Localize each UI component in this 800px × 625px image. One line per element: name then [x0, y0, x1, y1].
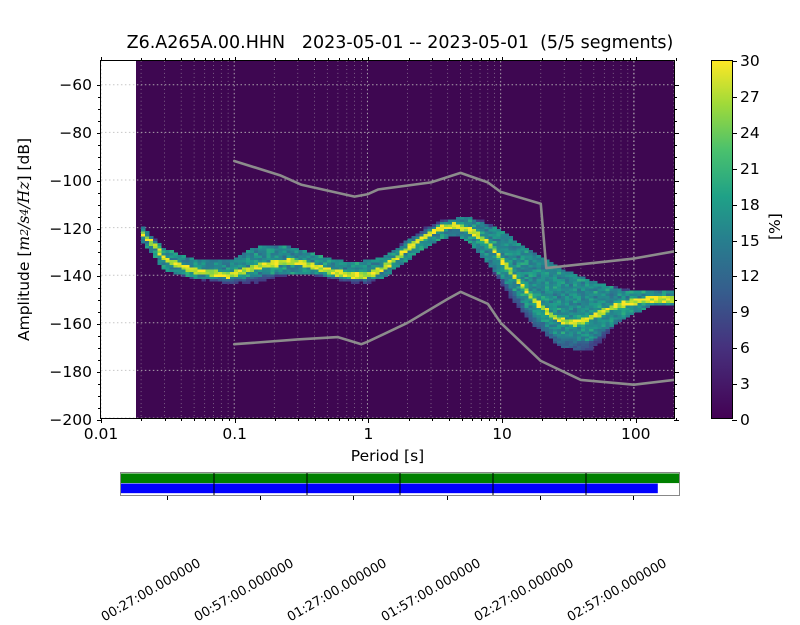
x-tick-minor	[328, 418, 329, 421]
timeline-tick-label: 00:27:00.000000	[99, 556, 204, 625]
x-tick-minor	[583, 418, 584, 421]
y-tick-minor	[98, 264, 101, 265]
y-tick-label: −100	[49, 172, 92, 190]
x-tick-minor	[496, 418, 497, 421]
x-tick-minor-top	[432, 58, 433, 61]
x-tick-minor	[165, 418, 166, 421]
y-tick-major-right	[674, 181, 679, 182]
x-tick-minor-top	[496, 58, 497, 61]
y-axis-unit-m: m	[15, 236, 33, 251]
y-tick-minor	[98, 241, 101, 242]
y-tick-minor	[98, 121, 101, 122]
x-tick-label: 0.1	[222, 425, 247, 443]
x-tick-minor	[355, 418, 356, 421]
y-axis-title-prefix: Amplitude [	[15, 251, 33, 341]
x-tick-minor-top	[348, 58, 349, 61]
timeline-axes[interactable]	[120, 472, 680, 496]
x-tick-minor-top	[229, 58, 230, 61]
ppsd-data-layer	[101, 61, 674, 418]
y-tick-major	[97, 229, 102, 230]
timeline-tick	[260, 496, 261, 500]
x-tick-minor-top	[596, 58, 597, 61]
x-tick-minor	[623, 418, 624, 421]
x-tick-minor-top	[566, 58, 567, 61]
x-tick-minor	[362, 418, 363, 421]
y-tick-minor	[98, 252, 101, 253]
y-tick-major-right	[674, 229, 679, 230]
x-tick-minor-top	[583, 58, 584, 61]
x-tick-major-top	[636, 57, 637, 62]
x-tick-minor	[298, 418, 299, 421]
x-tick-major	[235, 418, 236, 423]
x-tick-minor	[275, 418, 276, 421]
x-tick-minor-top	[489, 58, 490, 61]
y-tick-minor-right	[674, 264, 677, 265]
x-tick-minor	[489, 418, 490, 421]
timeline-bars	[121, 473, 679, 495]
x-tick-minor-top	[205, 58, 206, 61]
y-tick-label: −80	[59, 124, 92, 142]
y-tick-major-right	[674, 85, 679, 86]
y-tick-minor-right	[674, 205, 677, 206]
x-tick-major-top	[101, 57, 102, 62]
y-tick-major	[97, 85, 102, 86]
x-tick-minor-top	[214, 58, 215, 61]
y-tick-minor-right	[674, 157, 677, 158]
x-tick-minor	[472, 418, 473, 421]
colorbar-tick-label: 24	[740, 124, 760, 142]
x-tick-minor	[222, 418, 223, 421]
x-tick-minor-top	[462, 58, 463, 61]
timeline-tick-label: 00:57:00.000000	[192, 556, 297, 625]
y-tick-minor-right	[674, 396, 677, 397]
x-tick-major	[636, 418, 637, 423]
y-axis-unit-m-exp: 2	[18, 229, 31, 236]
timeline-tick-label: 01:57:00.000000	[379, 556, 484, 625]
colorbar-tick-label: 15	[740, 232, 760, 250]
x-tick-minor	[409, 418, 410, 421]
y-tick-minor-right	[674, 384, 677, 385]
x-tick-minor-top	[141, 58, 142, 61]
y-tick-minor	[98, 300, 101, 301]
y-tick-label: −140	[49, 267, 92, 285]
y-tick-major	[97, 181, 102, 182]
x-tick-label: 1	[363, 425, 373, 443]
x-tick-major-top	[235, 57, 236, 62]
y-tick-major	[97, 133, 102, 134]
y-tick-minor	[98, 312, 101, 313]
y-tick-label: −180	[49, 363, 92, 381]
colorbar-tick	[732, 384, 737, 385]
x-tick-minor-top	[630, 58, 631, 61]
x-tick-minor	[348, 418, 349, 421]
x-tick-minor-top	[298, 58, 299, 61]
colorbar-tick-label: 3	[740, 375, 750, 393]
y-tick-minor-right	[674, 408, 677, 409]
y-tick-minor-right	[674, 336, 677, 337]
timeline-tick	[167, 496, 168, 500]
y-tick-minor	[98, 288, 101, 289]
x-tick-label: 10	[492, 425, 512, 443]
colorbar-tick-label: 18	[740, 196, 760, 214]
x-tick-minor	[630, 418, 631, 421]
y-axis-unit-slash-1: /	[15, 224, 33, 229]
y-axis-unit-s: s	[15, 216, 33, 224]
x-tick-minor	[205, 418, 206, 421]
page-title: Z6.A265A.00.HHN 2023-05-01 -- 2023-05-01…	[0, 33, 800, 53]
x-tick-minor-top	[362, 58, 363, 61]
y-axis-unit-slash-2: /	[15, 203, 33, 208]
x-tick-minor	[566, 418, 567, 421]
y-tick-minor	[98, 109, 101, 110]
y-tick-minor-right	[674, 97, 677, 98]
x-tick-minor-top	[275, 58, 276, 61]
y-axis-title: Amplitude [m2/s4/Hz] [dB]	[14, 60, 34, 419]
y-tick-minor	[98, 217, 101, 218]
y-tick-minor	[98, 360, 101, 361]
y-tick-minor	[98, 205, 101, 206]
x-tick-minor-top	[676, 58, 677, 61]
colorbar-tick-label: 12	[740, 267, 760, 285]
x-tick-minor	[481, 418, 482, 421]
y-tick-minor-right	[674, 312, 677, 313]
colorbar-tick	[732, 61, 737, 62]
y-tick-minor-right	[674, 121, 677, 122]
colorbar-tick	[732, 276, 737, 277]
timeline-tick-label: 02:27:00.000000	[472, 556, 577, 625]
x-tick-minor-top	[339, 58, 340, 61]
y-tick-minor-right	[674, 348, 677, 349]
x-tick-minor-top	[615, 58, 616, 61]
y-tick-minor-right	[674, 288, 677, 289]
colorbar-tick	[732, 348, 737, 349]
y-tick-major-right	[674, 133, 679, 134]
x-tick-major	[502, 418, 503, 423]
y-tick-minor-right	[674, 300, 677, 301]
x-tick-major	[101, 418, 102, 423]
x-tick-minor-top	[181, 58, 182, 61]
colorbar-tick	[732, 312, 737, 313]
x-tick-minor	[462, 418, 463, 421]
y-tick-minor-right	[674, 193, 677, 194]
colorbar-tick-label: 9	[740, 303, 750, 321]
x-tick-minor	[194, 418, 195, 421]
y-tick-minor-right	[674, 360, 677, 361]
y-axis-unit-s-exp: 4	[18, 208, 31, 215]
x-tick-minor-top	[194, 58, 195, 61]
x-tick-minor-top	[481, 58, 482, 61]
ppsd-plot-area	[101, 61, 674, 418]
y-tick-minor	[98, 408, 101, 409]
y-tick-minor-right	[674, 169, 677, 170]
y-tick-label: −60	[59, 76, 92, 94]
y-tick-major-right	[674, 324, 679, 325]
x-tick-major-top	[368, 57, 369, 62]
x-tick-minor	[229, 418, 230, 421]
colorbar-tick	[732, 97, 737, 98]
y-tick-minor	[98, 348, 101, 349]
colorbar-tick	[732, 420, 737, 421]
y-tick-major	[97, 372, 102, 373]
x-tick-minor	[606, 418, 607, 421]
x-tick-minor	[542, 418, 543, 421]
timeline-tick	[633, 496, 634, 500]
x-tick-major	[368, 418, 369, 423]
colorbar-tick	[732, 205, 737, 206]
x-tick-minor	[615, 418, 616, 421]
y-tick-minor	[98, 157, 101, 158]
x-tick-minor-top	[472, 58, 473, 61]
x-tick-minor	[141, 418, 142, 421]
y-tick-minor	[98, 193, 101, 194]
y-axis-title-suffix: ] [dB]	[15, 138, 33, 182]
y-tick-minor-right	[674, 241, 677, 242]
x-tick-minor	[596, 418, 597, 421]
y-tick-major	[97, 324, 102, 325]
x-axis-title: Period [s]	[100, 447, 675, 465]
colorbar-tick-label: 27	[740, 88, 760, 106]
colorbar-tick-label: 30	[740, 52, 760, 70]
y-tick-major-right	[674, 372, 679, 373]
x-tick-minor	[214, 418, 215, 421]
y-tick-minor	[98, 336, 101, 337]
timeline-tick	[353, 496, 354, 500]
y-axis-unit-hz: Hz	[15, 182, 33, 204]
x-tick-minor-top	[165, 58, 166, 61]
colorbar-tick-label: 6	[740, 339, 750, 357]
y-tick-minor	[98, 384, 101, 385]
x-tick-minor-top	[315, 58, 316, 61]
x-tick-major-top	[502, 57, 503, 62]
timeline-tick-label: 02:57:00.000000	[565, 556, 670, 625]
colorbar-tick-label: 21	[740, 160, 760, 178]
x-tick-minor	[432, 418, 433, 421]
ppsd-axes[interactable]: −60−80−100−120−140−160−180−2000.010.1110…	[100, 60, 675, 419]
colorbar-tick	[732, 241, 737, 242]
x-tick-minor	[339, 418, 340, 421]
x-tick-minor-top	[222, 58, 223, 61]
y-tick-major	[97, 276, 102, 277]
colorbar-tick-label: 0	[740, 411, 750, 429]
x-tick-minor-top	[449, 58, 450, 61]
colorbar-tick	[732, 133, 737, 134]
timeline-tick	[447, 496, 448, 500]
x-tick-minor-top	[409, 58, 410, 61]
timeline-tick-label: 01:27:00.000000	[285, 556, 390, 625]
y-tick-minor	[98, 145, 101, 146]
colorbar-title: [%]	[766, 213, 784, 240]
colorbar[interactable]: 302724211815129630	[711, 60, 733, 419]
timeline-tick	[540, 496, 541, 500]
colorbar-tick	[732, 169, 737, 170]
y-tick-major-right	[674, 276, 679, 277]
y-tick-minor	[98, 396, 101, 397]
x-tick-label: 0.01	[84, 425, 119, 443]
y-tick-label: −160	[49, 315, 92, 333]
x-tick-minor-top	[606, 58, 607, 61]
x-tick-minor	[676, 418, 677, 421]
x-tick-label: 100	[621, 425, 651, 443]
y-tick-minor	[98, 97, 101, 98]
x-tick-minor-top	[623, 58, 624, 61]
x-tick-minor	[315, 418, 316, 421]
x-tick-minor-top	[542, 58, 543, 61]
x-tick-minor-top	[328, 58, 329, 61]
x-tick-minor-top	[355, 58, 356, 61]
y-tick-minor-right	[674, 145, 677, 146]
y-tick-minor-right	[674, 252, 677, 253]
y-tick-minor-right	[674, 217, 677, 218]
y-tick-minor	[98, 169, 101, 170]
y-tick-minor-right	[674, 109, 677, 110]
x-tick-minor	[181, 418, 182, 421]
x-tick-minor	[449, 418, 450, 421]
y-tick-label: −120	[49, 220, 92, 238]
